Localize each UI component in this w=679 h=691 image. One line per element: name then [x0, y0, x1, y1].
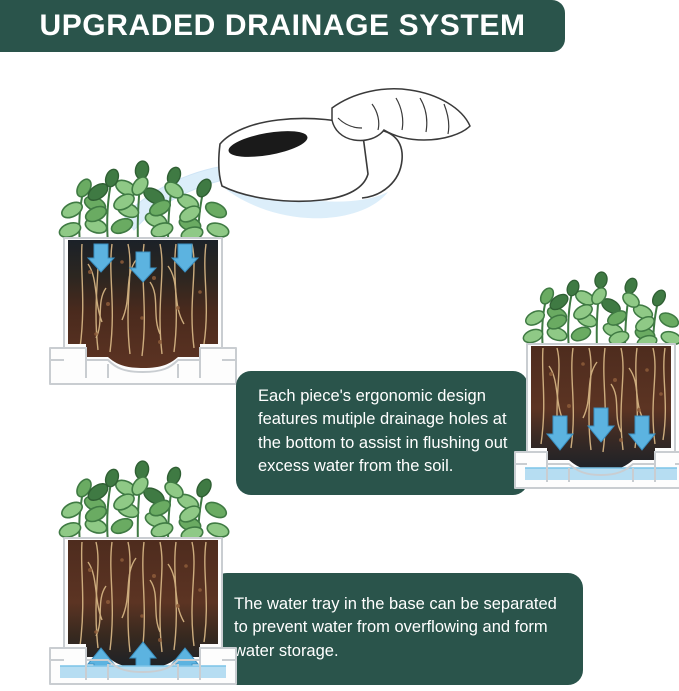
hand-holding-watering-can — [212, 82, 472, 267]
planter-watering-stage — [50, 152, 236, 392]
plant-foliage — [57, 460, 230, 544]
infographic-page: UPGRADED DRAINAGE SYSTEM — [0, 0, 679, 691]
planter-topleft-illustration — [50, 152, 236, 392]
leaves — [57, 460, 230, 543]
page-title: UPGRADED DRAINAGE SYSTEM — [25, 9, 525, 43]
leaves — [57, 160, 230, 243]
planter-draining-stage — [515, 268, 679, 500]
callout-drainage-holes-text: Each piece's ergonomic design features m… — [258, 387, 507, 475]
callout-water-tray-text: The water tray in the base can be separa… — [234, 595, 557, 660]
plant-foliage — [57, 160, 230, 244]
title-banner: UPGRADED DRAINAGE SYSTEM — [0, 0, 565, 52]
planter-wicking-stage — [50, 452, 236, 691]
callout-water-tray: The water tray in the base can be separa… — [212, 573, 583, 685]
plant-foliage — [522, 271, 679, 350]
planter-bottomleft-illustration — [50, 452, 236, 691]
hand-outline — [332, 89, 470, 141]
planter-right-illustration — [515, 268, 679, 500]
callout-drainage-holes: Each piece's ergonomic design features m… — [236, 371, 528, 495]
